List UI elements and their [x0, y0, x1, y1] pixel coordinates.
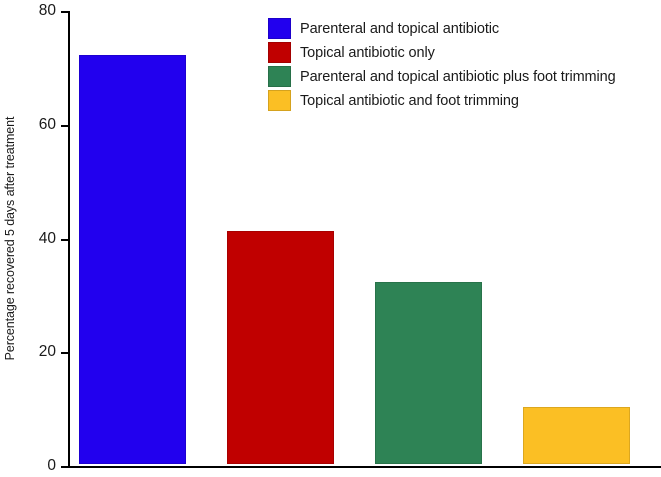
legend-item[interactable]: Parenteral and topical antibiotic plus f…	[268, 65, 616, 88]
legend-item[interactable]: Topical antibiotic and foot trimming	[268, 89, 616, 112]
legend-swatch-icon	[268, 66, 291, 87]
y-tick-label-20: 20	[39, 343, 56, 361]
x-axis-spine	[68, 466, 661, 468]
bar-chart-figure: Percentage recovered 5 days after treatm…	[0, 0, 661, 477]
y-tick-label-0: 0	[47, 457, 56, 475]
bar	[227, 231, 334, 464]
legend-label: Parenteral and topical antibiotic	[300, 21, 499, 37]
y-tick-label-40: 40	[39, 230, 56, 248]
bar	[79, 55, 186, 465]
legend-swatch-icon	[268, 18, 291, 39]
y-tick-label-80: 80	[39, 2, 56, 20]
chart-legend: Parenteral and topical antibiotic Topica…	[268, 17, 616, 112]
y-tick-label-60: 60	[39, 116, 56, 134]
bar	[375, 282, 482, 464]
legend-item[interactable]: Topical antibiotic only	[268, 41, 616, 64]
bar	[523, 407, 630, 464]
legend-swatch-icon	[268, 90, 291, 111]
legend-label: Topical antibiotic and foot trimming	[300, 93, 519, 109]
legend-label: Parenteral and topical antibiotic plus f…	[300, 69, 616, 85]
legend-item[interactable]: Parenteral and topical antibiotic	[268, 17, 616, 40]
legend-swatch-icon	[268, 42, 291, 63]
legend-label: Topical antibiotic only	[300, 45, 435, 61]
y-axis-label: Percentage recovered 5 days after treatm…	[0, 0, 20, 477]
y-axis-spine	[68, 11, 70, 467]
